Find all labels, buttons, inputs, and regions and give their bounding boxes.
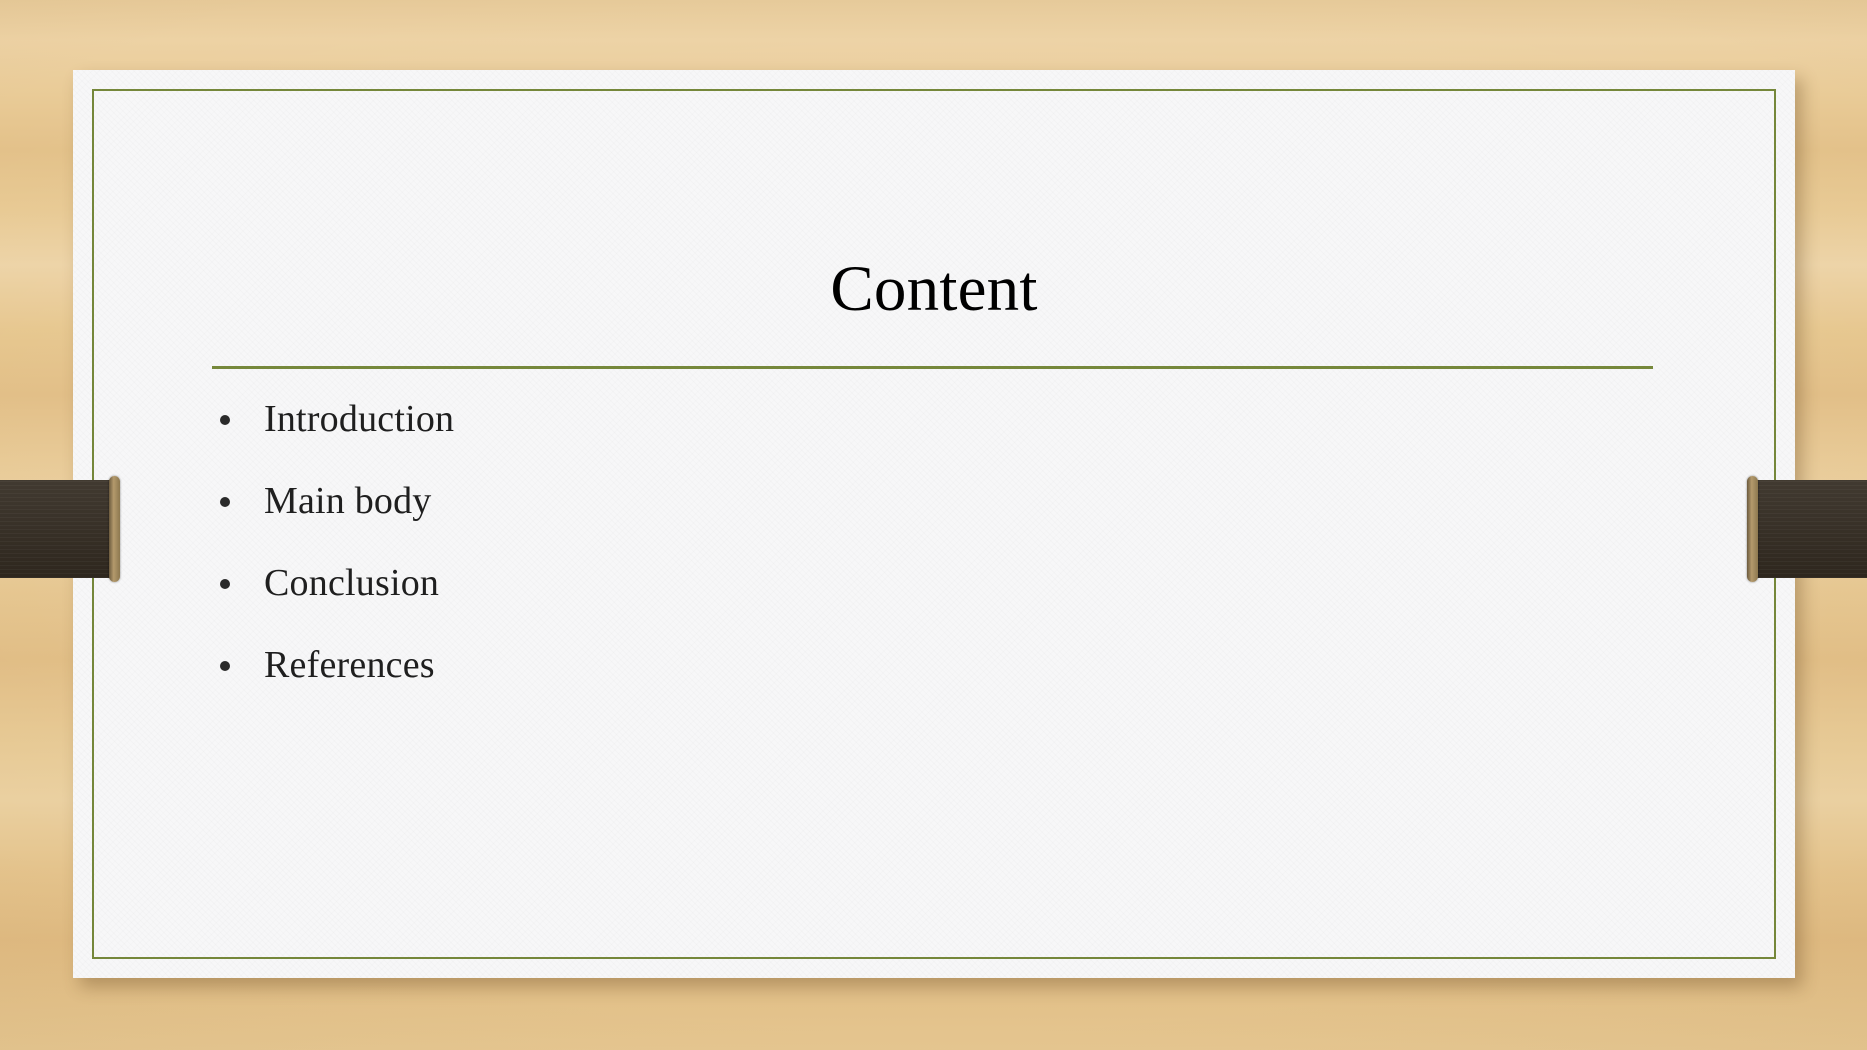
page-title[interactable]: Content bbox=[830, 255, 1037, 323]
title-block: Content bbox=[73, 255, 1795, 323]
list-item-label: Main body bbox=[264, 482, 432, 520]
presentation-slide[interactable]: Content Introduction Main body Conclusio… bbox=[73, 70, 1795, 978]
list-item[interactable]: Conclusion bbox=[212, 564, 1662, 646]
list-item[interactable]: References bbox=[212, 646, 1662, 728]
ribbon-band-right bbox=[1749, 480, 1867, 578]
list-item-label: Introduction bbox=[264, 400, 454, 438]
bullet-dot-icon bbox=[220, 579, 230, 589]
bullet-dot-icon bbox=[220, 661, 230, 671]
bullet-dot-icon bbox=[220, 415, 230, 425]
list-item[interactable]: Main body bbox=[212, 482, 1662, 564]
list-item[interactable]: Introduction bbox=[212, 400, 1662, 482]
list-item-label: Conclusion bbox=[264, 564, 439, 602]
ribbon-band-left bbox=[0, 480, 118, 578]
content-list: Introduction Main body Conclusion Refere… bbox=[212, 400, 1662, 728]
bullet-dot-icon bbox=[220, 497, 230, 507]
ribbon-cap-right-icon bbox=[1747, 476, 1758, 582]
ribbon-cap-left-icon bbox=[109, 476, 120, 582]
title-divider bbox=[212, 366, 1653, 369]
list-item-label: References bbox=[264, 646, 435, 684]
